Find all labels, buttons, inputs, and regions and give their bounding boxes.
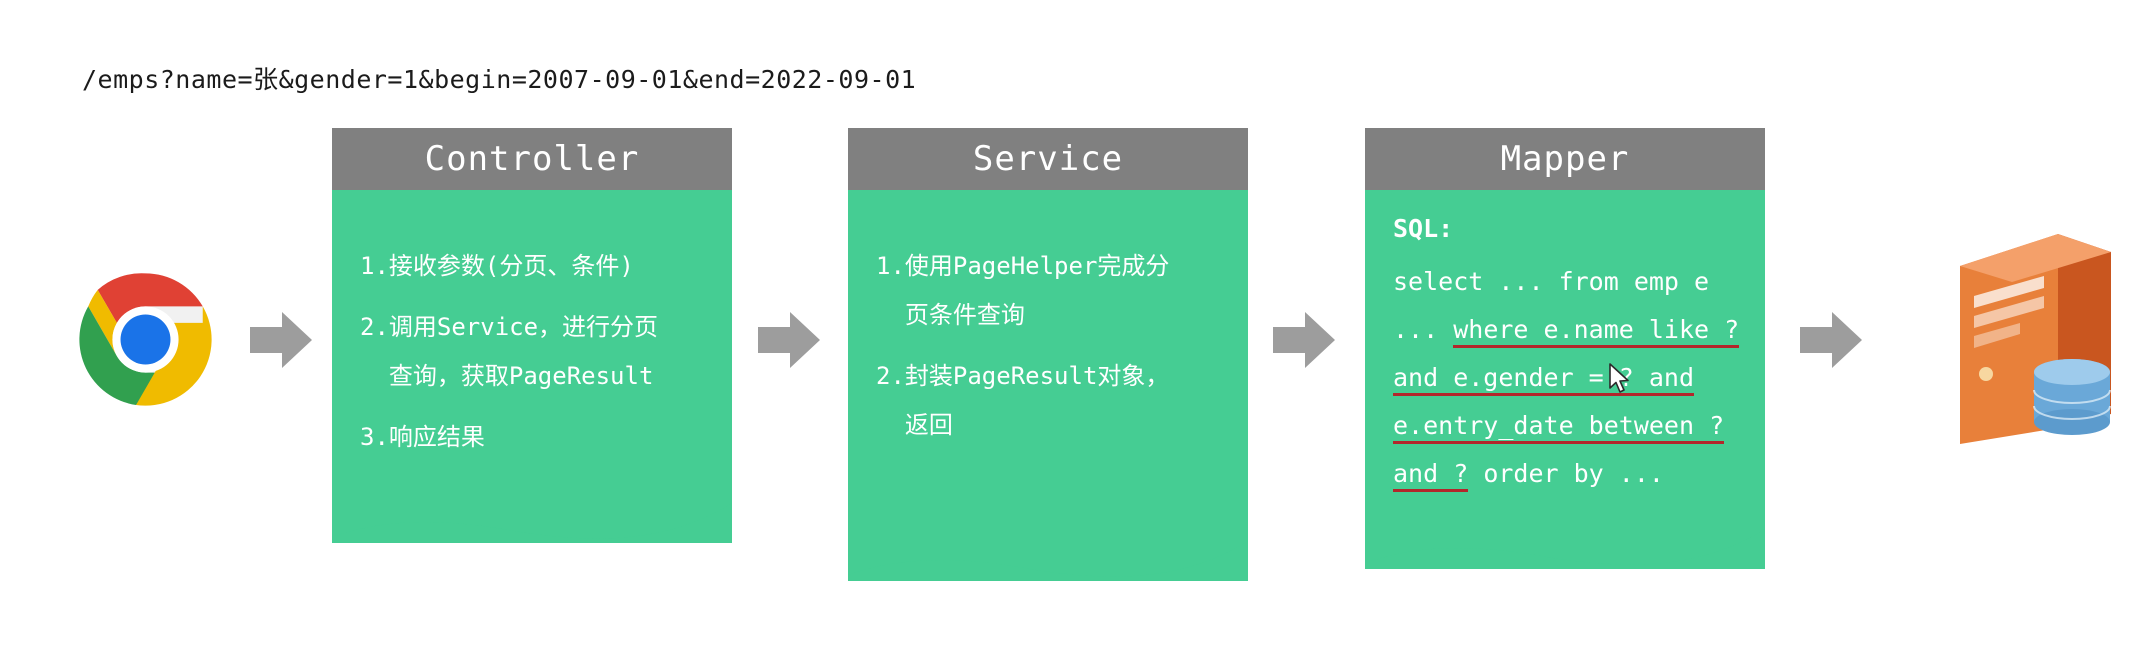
arrow-shaft: [1800, 327, 1836, 353]
list-item: 1. 接收参数(分页、条件): [360, 242, 704, 291]
chrome-logo-icon: [78, 272, 213, 407]
sql-text: order by ...: [1468, 459, 1664, 488]
arrow-head: [790, 312, 820, 368]
step-text: 使用PageHelper完成分 页条件查询: [905, 242, 1220, 340]
step-text: 封装PageResult对象， 返回: [905, 352, 1220, 450]
card-wave-edge: [1365, 511, 1765, 569]
sql-text: ...: [1393, 315, 1453, 344]
step-line: 调用Service，进行分页: [389, 303, 704, 352]
right-arrow-icon: [1800, 312, 1862, 368]
list-item: 2. 调用Service，进行分页 查询，获取PageResult: [360, 303, 704, 401]
server-database-icon: [1948, 222, 2123, 452]
arrow-shaft: [250, 327, 286, 353]
mapper-card-header: Mapper: [1365, 128, 1765, 190]
step-number: 3.: [360, 413, 389, 462]
step-number: 1.: [360, 242, 389, 291]
step-line: 返回: [905, 401, 1220, 450]
list-item: 3. 响应结果: [360, 413, 704, 462]
step-number: 2.: [360, 303, 389, 401]
sql-line: select ... from emp e: [1393, 258, 1737, 306]
step-line: 查询，获取PageResult: [389, 352, 704, 401]
mouse-pointer-icon: [1609, 363, 1631, 395]
step-number: 2.: [876, 352, 905, 450]
mapper-card: Mapper SQL: select ... from emp e ... wh…: [1365, 128, 1765, 569]
mapper-card-title: Mapper: [1501, 139, 1630, 179]
controller-card-header: Controller: [332, 128, 732, 190]
step-line: 响应结果: [389, 413, 704, 462]
right-arrow-icon: [758, 312, 820, 368]
step-line: 使用PageHelper完成分: [905, 242, 1220, 291]
step-line: 封装PageResult对象，: [905, 352, 1220, 401]
sql-text: select ... from emp e: [1393, 267, 1709, 296]
sql-text-underlined: and e.gender = ? and: [1393, 363, 1694, 396]
step-line: 页条件查询: [905, 291, 1220, 340]
card-wave-edge: [848, 523, 1248, 581]
step-text: 接收参数(分页、条件): [389, 242, 704, 291]
right-arrow-icon: [1273, 312, 1335, 368]
sql-text-underlined: where e.name like ?: [1453, 315, 1739, 348]
sql-text-underlined: and ?: [1393, 459, 1468, 492]
step-number: 1.: [876, 242, 905, 340]
step-text: 调用Service，进行分页 查询，获取PageResult: [389, 303, 704, 401]
card-wave-edge: [332, 485, 732, 543]
sql-line: and e.gender = ? and: [1393, 354, 1737, 402]
arrow-head: [1305, 312, 1335, 368]
sql-line: e.entry_date between ?: [1393, 402, 1737, 450]
mapper-card-body: SQL: select ... from emp e ... where e.n…: [1365, 190, 1765, 569]
service-card-title: Service: [973, 139, 1123, 179]
list-item: 2. 封装PageResult对象， 返回: [876, 352, 1220, 450]
service-card-body: 1. 使用PageHelper完成分 页条件查询 2. 封装PageResult…: [848, 190, 1248, 581]
controller-card: Controller 1. 接收参数(分页、条件) 2. 调用Service，进…: [332, 128, 732, 543]
controller-card-title: Controller: [425, 139, 640, 179]
service-card-header: Service: [848, 128, 1248, 190]
sql-text-underlined: e.entry_date between ?: [1393, 411, 1724, 444]
sql-line: and ? order by ...: [1393, 450, 1737, 498]
arrow-head: [1832, 312, 1862, 368]
sql-line: ... where e.name like ?: [1393, 306, 1737, 354]
arrow-head: [282, 312, 312, 368]
step-line: 接收参数(分页、条件): [389, 242, 704, 291]
right-arrow-icon: [250, 312, 312, 368]
controller-card-body: 1. 接收参数(分页、条件) 2. 调用Service，进行分页 查询，获取Pa…: [332, 190, 732, 543]
arrow-shaft: [758, 327, 794, 353]
sql-label: SQL:: [1393, 212, 1737, 246]
list-item: 1. 使用PageHelper完成分 页条件查询: [876, 242, 1220, 340]
service-card: Service 1. 使用PageHelper完成分 页条件查询 2. 封装Pa…: [848, 128, 1248, 581]
request-url-text: /emps?name=张&gender=1&begin=2007-09-01&e…: [82, 60, 916, 96]
step-text: 响应结果: [389, 413, 704, 462]
arrow-shaft: [1273, 327, 1309, 353]
